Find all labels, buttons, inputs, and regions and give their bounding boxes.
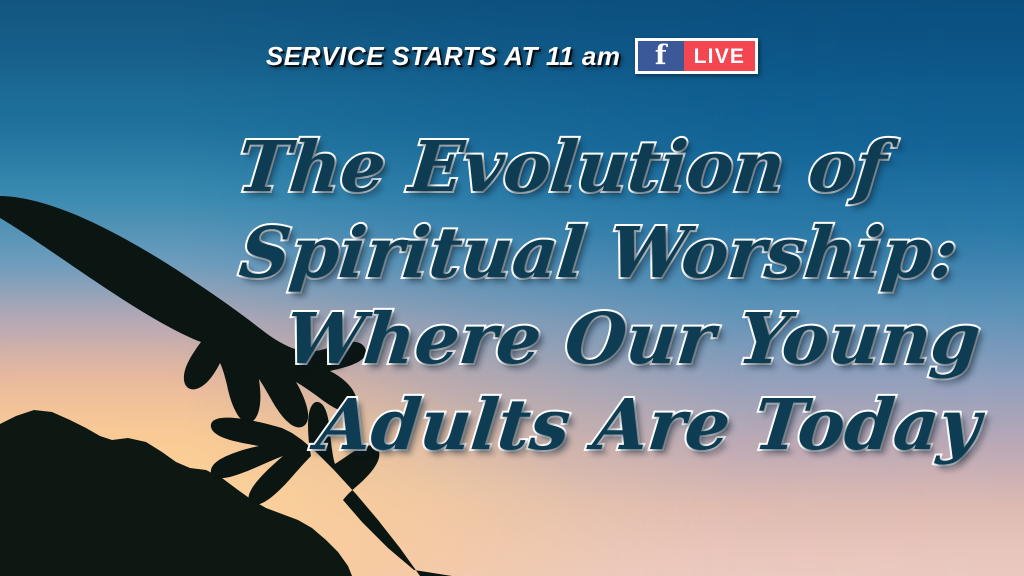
- title-line-2: Spiritual Worship:: [0, 210, 1024, 296]
- service-banner: SERVICE STARTS AT 11 am f LIVE: [0, 38, 1024, 74]
- live-label: LIVE: [694, 46, 745, 67]
- facebook-f-glyph: f: [655, 42, 667, 69]
- facebook-icon: f: [638, 41, 684, 71]
- sermon-title: The Evolution of Spiritual Worship: Wher…: [0, 124, 1024, 468]
- poster-canvas: SERVICE STARTS AT 11 am f LIVE The Evolu…: [0, 0, 1024, 576]
- title-line-4: Adults Are Today: [0, 382, 1024, 468]
- title-line-3: Where Our Young: [0, 296, 1024, 382]
- title-line-1: The Evolution of: [0, 124, 1024, 210]
- service-time-text: SERVICE STARTS AT 11 am: [266, 41, 621, 72]
- live-badge: LIVE: [684, 41, 755, 71]
- facebook-live-badge[interactable]: f LIVE: [635, 38, 758, 74]
